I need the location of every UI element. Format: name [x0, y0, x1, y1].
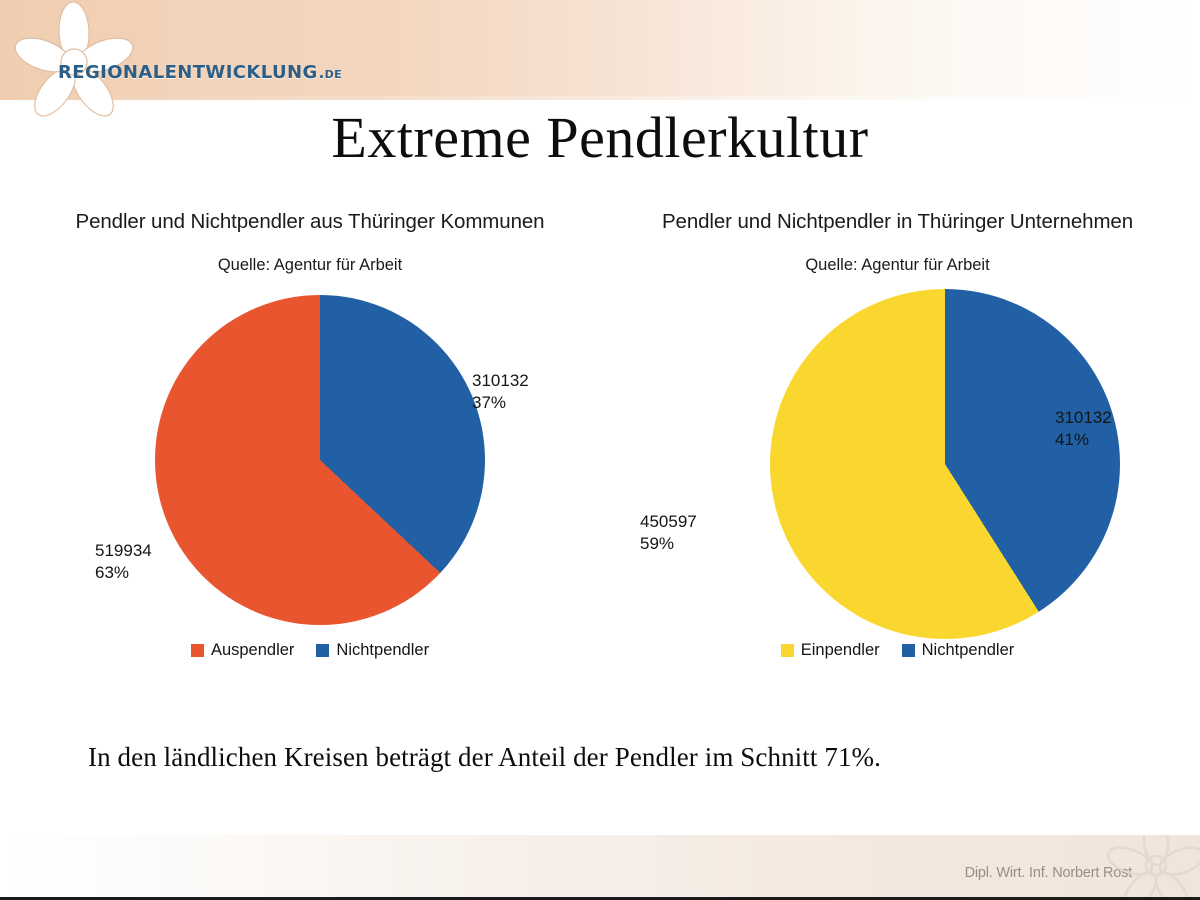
pie-slice-label-auspendler: 519934 63% [95, 540, 152, 584]
legend-swatch-icon [781, 644, 794, 657]
pie-chart-unternehmen[interactable] [770, 289, 1120, 639]
chart-panel-unternehmen: Pendler und Nichtpendler in Thüringer Un… [600, 210, 1195, 700]
chart-source-unternehmen: Quelle: Agentur für Arbeit [600, 256, 1195, 275]
legend-item-einpendler[interactable]: Einpendler [781, 641, 880, 660]
legend-item-nichtpendler[interactable]: Nichtpendler [316, 641, 429, 660]
slice-percent: 37% [472, 392, 529, 414]
chart-panel-kommunen: Pendler und Nichtpendler aus Thüringer K… [10, 210, 610, 700]
chart-title-unternehmen: Pendler und Nichtpendler in Thüringer Un… [600, 210, 1195, 234]
brand-wordmark[interactable]: Regionalentwicklung .de [58, 55, 342, 85]
slice-percent: 63% [95, 562, 152, 584]
page-title: Extreme Pendlerkultur [0, 108, 1200, 169]
legend-item-auspendler[interactable]: Auspendler [191, 641, 294, 660]
slide-canvas: Regionalentwicklung .de Extreme Pendlerk… [0, 0, 1200, 900]
pie-slice-label-nichtpendler: 310132 41% [1055, 407, 1112, 451]
flower-watermark-icon [1104, 835, 1200, 900]
legend-label: Nichtpendler [922, 641, 1015, 660]
pie-chart-kommunen[interactable] [155, 295, 485, 625]
legend-kommunen: Auspendler Nichtpendler [10, 641, 610, 660]
footer-band: Dipl. Wirt. Inf. Norbert Rost [0, 835, 1200, 900]
slide-caption: In den ländlichen Kreisen beträgt der An… [88, 742, 1112, 773]
slice-value: 450597 [640, 511, 697, 533]
brand-name: Regionalentwicklung [58, 55, 318, 85]
legend-unternehmen: Einpendler Nichtpendler [600, 641, 1195, 660]
pie-area-unternehmen: 310132 41% 450597 59% [600, 275, 1195, 635]
legend-label: Auspendler [211, 641, 294, 660]
legend-swatch-icon [316, 644, 329, 657]
legend-label: Nichtpendler [336, 641, 429, 660]
pie-slice-label-nichtpendler: 310132 37% [472, 370, 529, 414]
slice-percent: 59% [640, 533, 697, 555]
chart-source-kommunen: Quelle: Agentur für Arbeit [10, 256, 610, 275]
slice-value: 519934 [95, 540, 152, 562]
legend-swatch-icon [191, 644, 204, 657]
legend-label: Einpendler [801, 641, 880, 660]
pie-area-kommunen: 310132 37% 519934 63% [10, 275, 610, 635]
header-band: Regionalentwicklung .de [0, 0, 1200, 100]
pie-slice-label-einpendler: 450597 59% [640, 511, 697, 555]
brand-tld: .de [319, 64, 342, 82]
slice-percent: 41% [1055, 429, 1112, 451]
slice-value: 310132 [472, 370, 529, 392]
legend-swatch-icon [902, 644, 915, 657]
slice-value: 310132 [1055, 407, 1112, 429]
chart-title-kommunen: Pendler und Nichtpendler aus Thüringer K… [10, 210, 610, 234]
legend-item-nichtpendler[interactable]: Nichtpendler [902, 641, 1015, 660]
